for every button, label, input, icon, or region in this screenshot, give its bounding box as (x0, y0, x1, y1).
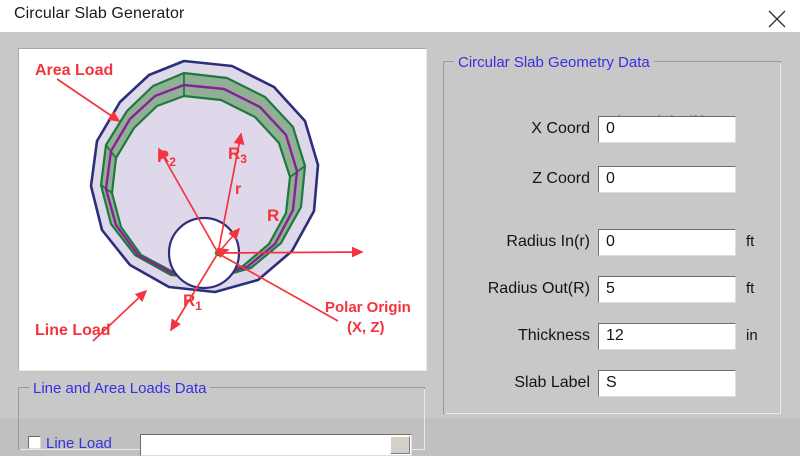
label-line-load: Line Load (35, 322, 111, 339)
label-z-coord: Z Coord (430, 170, 590, 188)
label-radius-out: Radius Out(R) (420, 280, 590, 298)
thickness-value: 12 (606, 327, 624, 345)
circular-slab-generator-dialog: Circular Slab Generator (0, 0, 800, 418)
radius-in-value: 0 (606, 233, 615, 251)
label-radius-in: Radius In(r) (430, 233, 590, 251)
slab-diagram-panel: Area Load Line Load Polar Origin (X, Z) … (18, 48, 427, 371)
chevron-down-icon[interactable] (390, 436, 410, 454)
thickness-input[interactable]: 12 (598, 323, 736, 350)
radius-out-input[interactable]: 5 (598, 276, 736, 303)
slab-label-value: S (606, 374, 617, 392)
unit-thickness: in (746, 327, 758, 344)
radius-out-value: 5 (606, 280, 615, 298)
geometry-group-title: Circular Slab Geometry Data (454, 54, 654, 71)
title-bar: Circular Slab Generator (0, 0, 800, 33)
slab-diagram: Area Load Line Load Polar Origin (X, Z) … (19, 49, 426, 370)
window-title: Circular Slab Generator (14, 5, 184, 23)
close-icon (767, 9, 787, 29)
z-coord-value: 0 (606, 170, 615, 188)
leader-area-load (57, 79, 119, 121)
slab-label-input[interactable]: S (598, 370, 736, 397)
label-polar-origin-2: (X, Z) (347, 319, 385, 336)
x-coord-value: 0 (606, 120, 615, 138)
label-polar-origin-1: Polar Origin (325, 299, 411, 316)
line-load-checkbox[interactable] (28, 436, 41, 449)
label-R1: R1 (183, 291, 202, 313)
unit-radius-in: ft (746, 233, 754, 250)
unit-radius-out: ft (746, 280, 754, 297)
x-coord-input[interactable]: 0 (598, 116, 736, 143)
radius-in-input[interactable]: 0 (598, 229, 736, 256)
line-load-checkbox-label: Line Load (46, 435, 112, 452)
dialog-client-area: Area Load Line Load Polar Origin (X, Z) … (0, 32, 800, 418)
label-area-load: Area Load (35, 62, 113, 79)
z-coord-input[interactable]: 0 (598, 166, 736, 193)
label-R-outer: R (267, 206, 279, 225)
loads-group-title: Line and Area Loads Data (29, 380, 210, 397)
label-x-coord: X Coord (430, 120, 590, 138)
close-button[interactable] (754, 0, 800, 31)
label-slab-label: Slab Label (430, 374, 590, 392)
label-thickness: Thickness (430, 327, 590, 345)
arrow-R-outer (218, 252, 362, 253)
line-load-combobox[interactable] (140, 434, 412, 456)
label-r-inner: r (235, 181, 241, 198)
